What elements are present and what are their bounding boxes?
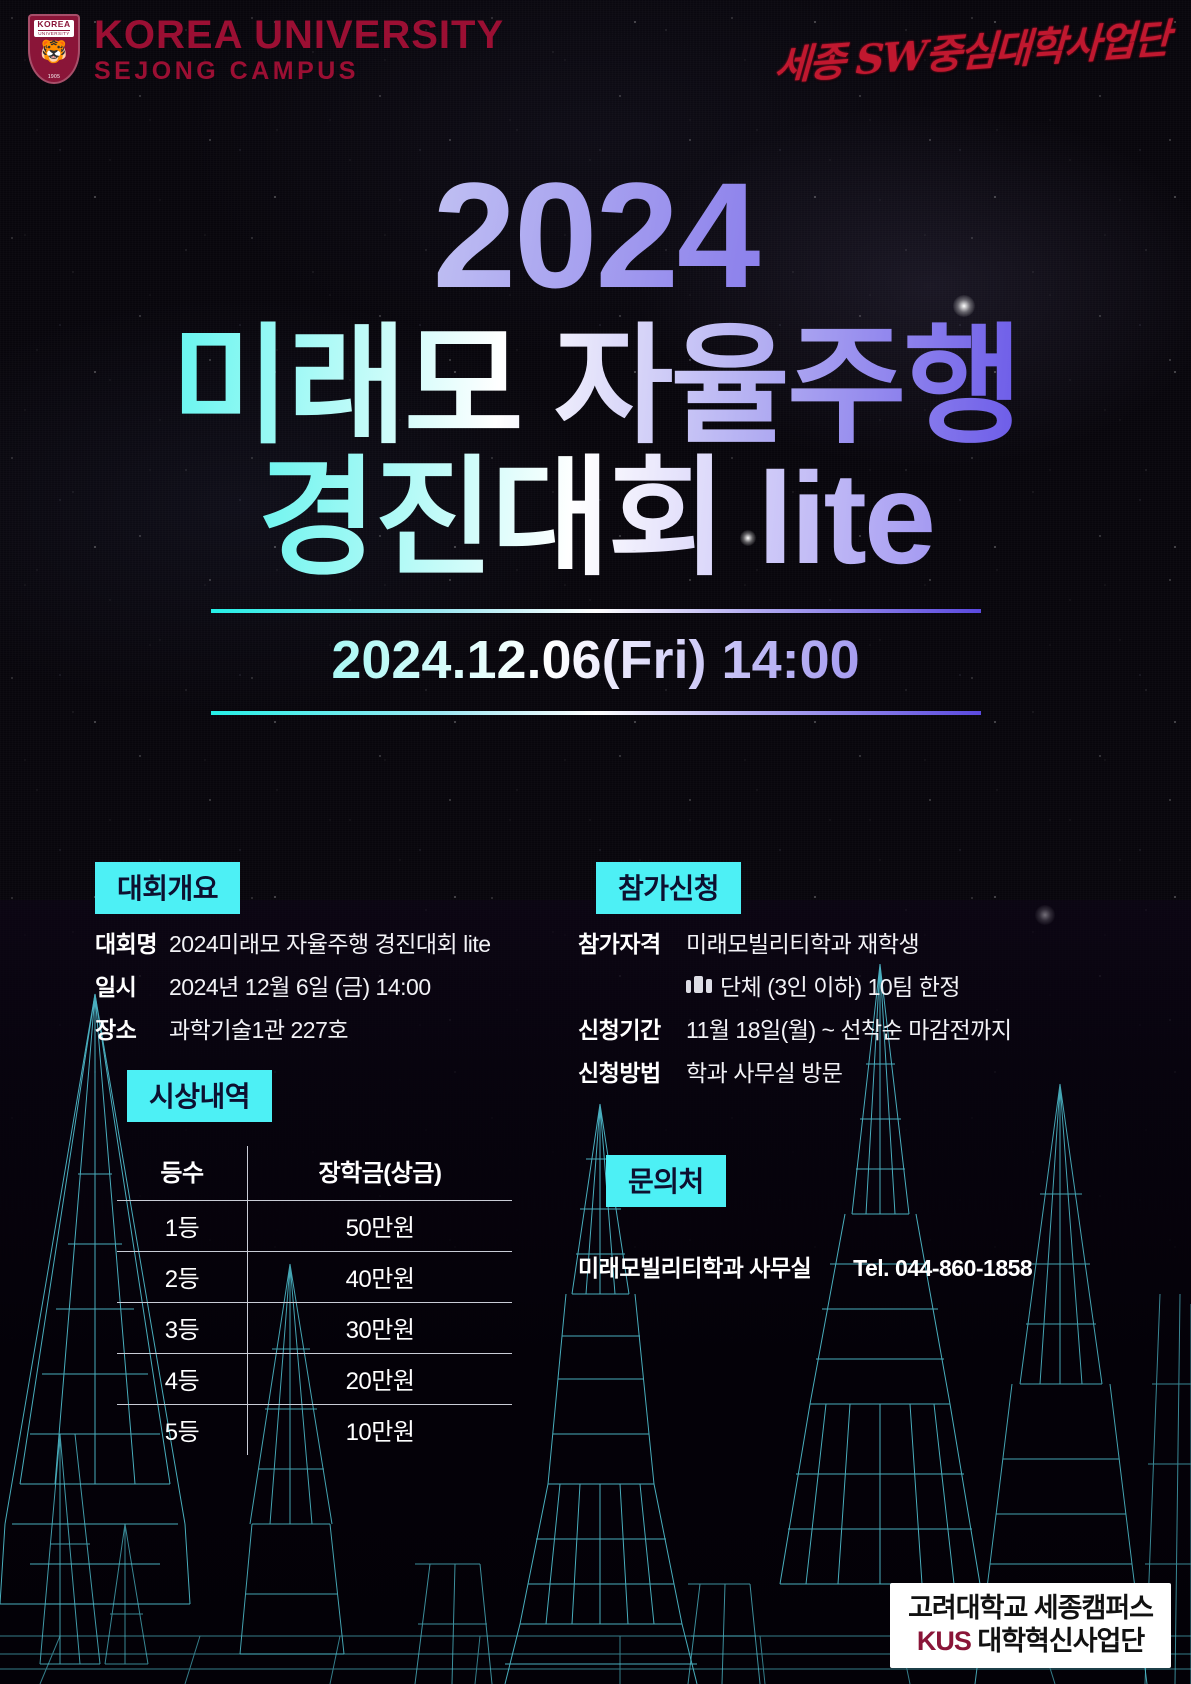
shield-wordmark: KOREA UNIVERSITY — [34, 20, 74, 37]
sw-program-logo-text: 세종 SW중심대학사업단 — [774, 6, 1170, 92]
title-year: 2024 — [0, 160, 1191, 310]
divider-bottom — [211, 711, 981, 715]
apply-value: 학과 사무실 방문 — [686, 1059, 842, 1088]
tiger-icon: 🐯 — [40, 41, 67, 63]
korea-university-logo: KOREA UNIVERSITY 🐯 1905 KOREA UNIVERSITY… — [28, 14, 504, 84]
university-name-line1: KOREA UNIVERSITY — [94, 15, 504, 55]
awards-rank: 2등 — [117, 1252, 248, 1303]
apply-row: 신청방법 학과 사무실 방문 — [578, 1059, 1098, 1088]
table-row: 4등 20만원 — [117, 1354, 512, 1405]
kus-logo-line1: 고려대학교 세종캠퍼스 — [908, 1593, 1153, 1624]
overview-value: 과학기술1관 227호 — [169, 1016, 348, 1045]
apply-row: 참가자격 미래모빌리티학과 재학생 단체 (3인 이하) 10팀 한정 — [578, 930, 1098, 1002]
awards-prize: 50만원 — [248, 1201, 513, 1252]
table-row: 2등 40만원 — [117, 1252, 512, 1303]
apply-key: 신청기간 — [578, 1016, 686, 1045]
awards-badge: 시상내역 — [127, 1070, 272, 1122]
team-limit-text: 단체 (3인 이하) 10팀 한정 — [720, 968, 960, 1002]
left-column: 대회개요 대회명 2024미래모 자율주행 경진대회 lite 일시 2024년… — [95, 862, 575, 1455]
overview-badge: 대회개요 — [95, 862, 240, 914]
team-limit-line: 단체 (3인 이하) 10팀 한정 — [686, 968, 960, 1002]
overview-value: 2024년 12월 6일 (금) 14:00 — [169, 973, 431, 1002]
sw-program-logo: 세종 SW중심대학사업단 — [789, 14, 1169, 84]
apply-key: 신청방법 — [578, 1059, 686, 1088]
awards-col-prize: 장학금(상금) — [248, 1146, 513, 1201]
poster-root: KOREA UNIVERSITY 🐯 1905 KOREA UNIVERSITY… — [0, 0, 1191, 1684]
right-column: 참가신청 참가자격 미래모빌리티학과 재학생 단체 (3인 이하) 10팀 한정 — [578, 862, 1098, 1283]
awards-prize: 10만원 — [248, 1405, 513, 1456]
awards-section: 시상내역 등수 장학금(상금) 1등 50만원 — [95, 1070, 575, 1455]
awards-rank: 3등 — [117, 1303, 248, 1354]
kus-logo-suffix: 대학혁신사업단 — [971, 1626, 1144, 1656]
apply-badge: 참가신청 — [596, 862, 741, 914]
awards-rank: 4등 — [117, 1354, 248, 1405]
apply-value-group: 미래모빌리티학과 재학생 단체 (3인 이하) 10팀 한정 — [686, 930, 960, 1002]
kus-acronym: KUS — [917, 1626, 971, 1656]
apply-key: 참가자격 — [578, 930, 686, 959]
awards-header-row: 등수 장학금(상금) — [117, 1146, 512, 1201]
apply-value: 11월 18일(월) ~ 선착순 마감전까지 — [686, 1016, 1012, 1045]
awards-rank: 1등 — [117, 1201, 248, 1252]
overview-value: 2024미래모 자율주행 경진대회 lite — [169, 930, 491, 959]
university-shield-icon: KOREA UNIVERSITY 🐯 1905 — [28, 14, 80, 84]
table-row: 5등 10만원 — [117, 1405, 512, 1456]
shield-top-text: KOREA — [37, 20, 70, 29]
title-block: 2024 미래모 자율주행 경진대회 lite 2024.12.06(Fri) … — [0, 160, 1191, 715]
shield-year-text: 1905 — [48, 74, 60, 80]
contact-office: 미래모빌리티학과 사무실 — [578, 1249, 811, 1283]
overview-row: 대회명 2024미래모 자율주행 경진대회 lite — [95, 930, 575, 959]
awards-prize: 30만원 — [248, 1303, 513, 1354]
awards-table: 등수 장학금(상금) 1등 50만원 2등 40만원 — [117, 1146, 512, 1455]
awards-rank: 5등 — [117, 1405, 248, 1456]
contact-section: 문의처 미래모빌리티학과 사무실 Tel. 044-860-1858 — [578, 1155, 1098, 1283]
apply-row: 신청기간 11월 18일(월) ~ 선착순 마감전까지 — [578, 1016, 1098, 1045]
apply-rows: 참가자격 미래모빌리티학과 재학생 단체 (3인 이하) 10팀 한정 신청기간 — [578, 930, 1098, 1087]
overview-row: 일시 2024년 12월 6일 (금) 14:00 — [95, 973, 575, 1002]
table-row: 3등 30만원 — [117, 1303, 512, 1354]
kus-logo-line2: KUS 대학혁신사업단 — [908, 1626, 1153, 1657]
event-datetime: 2024.12.06(Fri) 14:00 — [0, 629, 1191, 691]
kus-footer-logo: 고려대학교 세종캠퍼스 KUS 대학혁신사업단 — [890, 1583, 1171, 1668]
overview-row: 장소 과학기술1관 227호 — [95, 1016, 575, 1045]
awards-prize: 20만원 — [248, 1354, 513, 1405]
awards-prize: 40만원 — [248, 1252, 513, 1303]
university-wordmark: KOREA UNIVERSITY SEJONG CAMPUS — [94, 15, 504, 84]
divider-top — [211, 609, 981, 613]
title-line-1: 미래모 자율주행 — [0, 316, 1191, 456]
people-group-icon — [686, 976, 712, 993]
overview-key: 장소 — [95, 1016, 169, 1045]
awards-col-rank: 등수 — [117, 1146, 248, 1201]
apply-value: 미래모빌리티학과 재학생 — [686, 930, 960, 959]
contact-line: 미래모빌리티학과 사무실 Tel. 044-860-1858 — [578, 1249, 1098, 1283]
contact-badge: 문의처 — [606, 1155, 726, 1207]
overview-key: 일시 — [95, 973, 169, 1002]
title-line-2: 경진대회 lite — [0, 448, 1191, 588]
university-name-line2: SEJONG CAMPUS — [94, 59, 504, 84]
overview-rows: 대회명 2024미래모 자율주행 경진대회 lite 일시 2024년 12월 … — [95, 930, 575, 1044]
shield-sub-text: UNIVERSITY — [38, 30, 70, 37]
table-row: 1등 50만원 — [117, 1201, 512, 1252]
overview-key: 대회명 — [95, 930, 169, 959]
contact-phone[interactable]: Tel. 044-860-1858 — [853, 1255, 1032, 1282]
poster-header: KOREA UNIVERSITY 🐯 1905 KOREA UNIVERSITY… — [0, 0, 1191, 104]
